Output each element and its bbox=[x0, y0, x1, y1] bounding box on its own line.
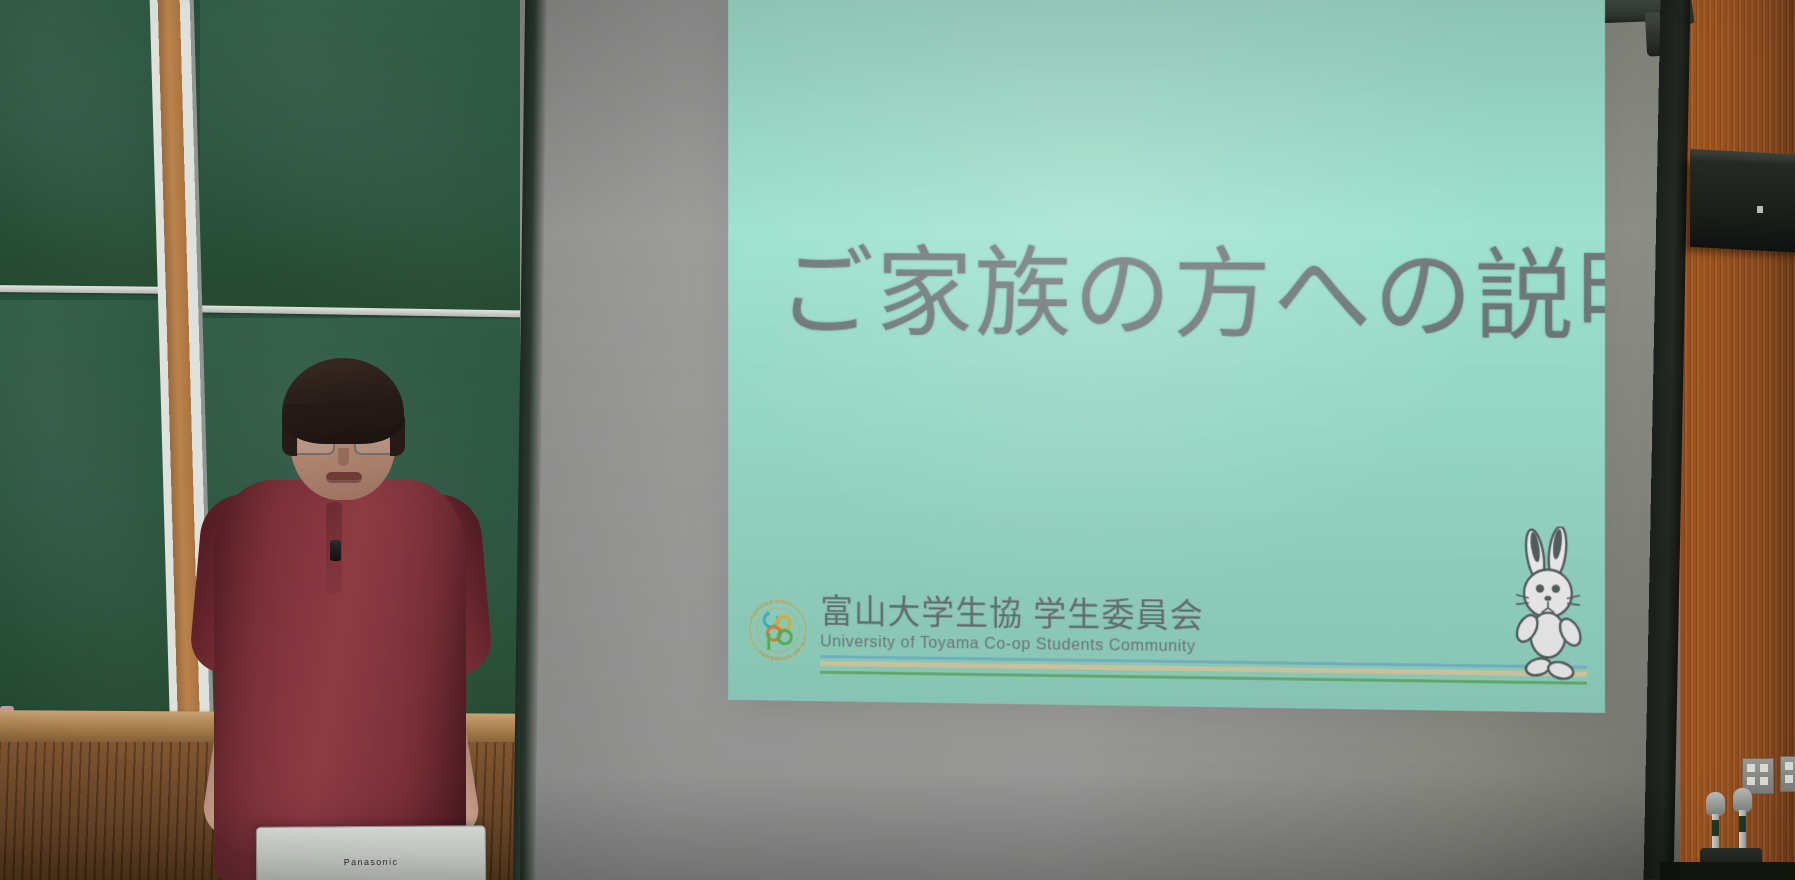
presenter-person bbox=[190, 352, 490, 880]
microphone-band bbox=[1739, 816, 1746, 832]
lapel-microphone bbox=[330, 540, 341, 561]
laptop-brand-label: Panasonic bbox=[257, 856, 485, 868]
microphone-head bbox=[1733, 788, 1752, 812]
lecture-hall-scene: ご家族の方への説明会 TOYAMA UNIV. CO-OP STUDENTS bbox=[0, 0, 1795, 880]
laptop-lid: Panasonic bbox=[256, 825, 486, 880]
wall-switch-plate[interactable] bbox=[1780, 756, 1795, 792]
wall-switch[interactable] bbox=[1760, 764, 1768, 772]
microphone-band bbox=[1712, 820, 1719, 836]
chalkboard-panel bbox=[0, 0, 175, 290]
wall-switch[interactable] bbox=[1785, 775, 1793, 783]
wall-switch[interactable] bbox=[1785, 762, 1793, 770]
microphone-head bbox=[1706, 792, 1725, 816]
hair-fringe bbox=[286, 404, 400, 434]
wall-switch[interactable] bbox=[1760, 777, 1768, 785]
wall-shading-overlay bbox=[520, 0, 1680, 880]
wood-panel-wall bbox=[1672, 0, 1795, 880]
chalkboard-panel bbox=[200, 0, 530, 310]
mouth bbox=[326, 472, 362, 483]
wall-switch[interactable] bbox=[1747, 764, 1755, 772]
wall-switch[interactable] bbox=[1747, 777, 1755, 785]
speaker-indicator-led bbox=[1757, 206, 1763, 213]
wall-speaker bbox=[1690, 159, 1795, 253]
chalkboard-panel bbox=[0, 300, 175, 725]
foreground-desk-edge bbox=[1660, 862, 1795, 880]
